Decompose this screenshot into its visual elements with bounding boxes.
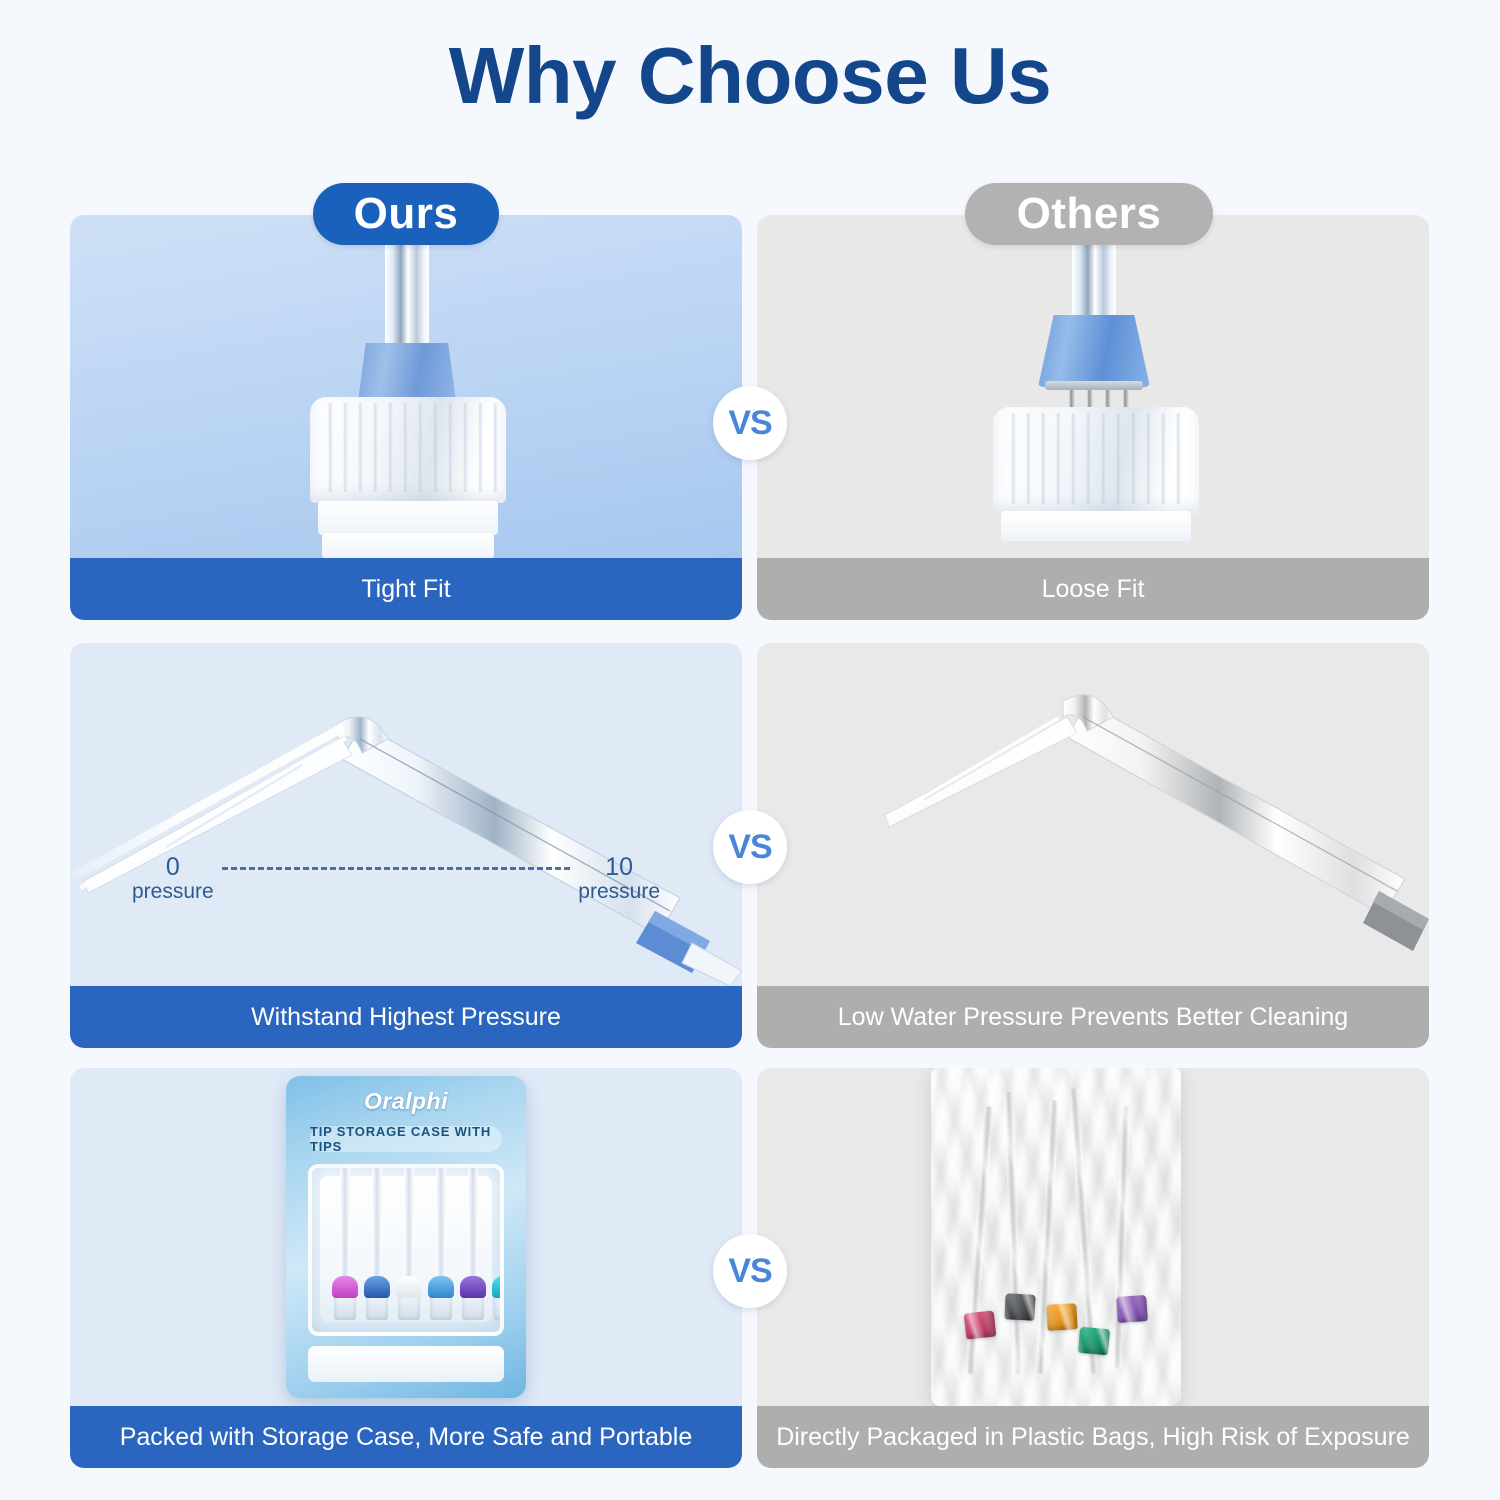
image-nozzle-loose-fit [757, 215, 1429, 558]
bag-tip-1 [964, 1311, 997, 1340]
pressure-scale-right-label: pressure [578, 880, 660, 904]
image-nozzle-tight-fit [70, 215, 742, 558]
package-footer [308, 1346, 504, 1382]
panel-ours-row-1: Tight Fit [70, 215, 742, 620]
package-window [308, 1164, 504, 1336]
panel-ours-row-3: Oralphi TIP STORAGE CASE WITH TIPS [70, 1068, 742, 1468]
bag-tip-2 [1004, 1293, 1035, 1321]
pressure-scale-dashed-line [222, 867, 571, 870]
image-storage-case-package: Oralphi TIP STORAGE CASE WITH TIPS [70, 1068, 742, 1406]
caption-others-row-1: Loose Fit [757, 558, 1429, 620]
image-water-jet-strong: 0 pressure 10 pressure [70, 643, 742, 986]
panel-others-row-2: Low Water Pressure Prevents Better Clean… [757, 643, 1429, 1048]
vs-badge-label: VS [728, 404, 771, 443]
water-jet-strong-svg [70, 643, 742, 986]
caption-others-row-3: Directly Packaged in Plastic Bags, High … [757, 1406, 1429, 1468]
caption-others-row-2: Low Water Pressure Prevents Better Clean… [757, 986, 1429, 1048]
why-choose-us-infographic: Why Choose Us Ours Others VS VS VS [0, 0, 1500, 1500]
vs-badge-row-1: VS [713, 386, 787, 460]
blue-collar [358, 343, 456, 401]
panel-others-row-3: Directly Packaged in Plastic Bags, High … [757, 1068, 1429, 1468]
vs-badge-row-3: VS [713, 1234, 787, 1308]
column-header-others-label: Others [1017, 189, 1162, 239]
pressure-scale-left-label: pressure [132, 880, 214, 904]
package-brand-name: Oralphi [286, 1088, 526, 1115]
nozzle-base [310, 397, 506, 503]
plastic-bag [931, 1068, 1181, 1406]
caption-ours-row-2: Withstand Highest Pressure [70, 986, 742, 1048]
panel-ours-row-2: 0 pressure 10 pressure Withstand Highest… [70, 643, 742, 1048]
caption-ours-row-1: Tight Fit [70, 558, 742, 620]
column-header-ours-label: Ours [354, 189, 459, 239]
bag-tip-3 [1046, 1303, 1077, 1331]
pressure-scale: 0 pressure 10 pressure [132, 855, 660, 904]
image-plastic-bag-package [757, 1068, 1429, 1406]
panel-others-row-1: Loose Fit [757, 215, 1429, 620]
blister-package: Oralphi TIP STORAGE CASE WITH TIPS [286, 1076, 526, 1398]
pressure-scale-left-value: 0 [166, 855, 180, 880]
image-water-jet-weak [757, 643, 1429, 986]
column-header-others: Others [965, 183, 1213, 245]
vs-badge-label: VS [728, 828, 771, 867]
column-header-ours: Ours [313, 183, 499, 245]
blue-collar [1038, 315, 1150, 387]
vs-badge-row-2: VS [713, 810, 787, 884]
nozzle-base [993, 407, 1199, 515]
package-subtitle: TIP STORAGE CASE WITH TIPS [310, 1126, 502, 1152]
caption-ours-row-3: Packed with Storage Case, More Safe and … [70, 1406, 742, 1468]
page-title: Why Choose Us [0, 30, 1500, 122]
bag-tip-4 [1078, 1327, 1110, 1356]
vs-badge-label: VS [728, 1252, 771, 1291]
water-jet-weak-svg [757, 643, 1429, 986]
bag-tip-5 [1116, 1295, 1148, 1323]
pressure-scale-right: 10 pressure [578, 855, 660, 904]
pressure-scale-right-value: 10 [605, 855, 633, 880]
pressure-scale-left: 0 pressure [132, 855, 214, 904]
